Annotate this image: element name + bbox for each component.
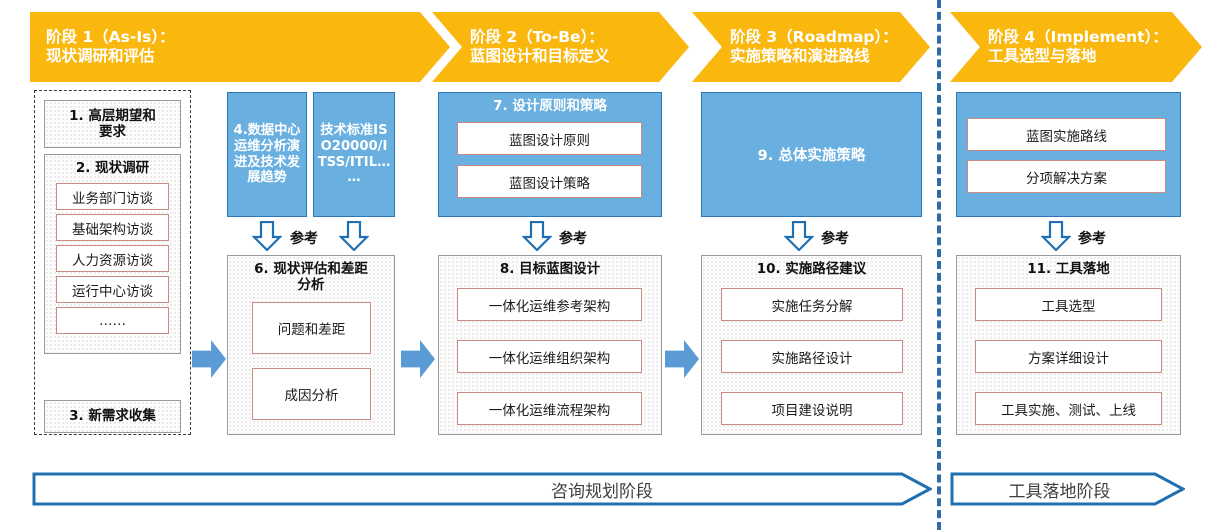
phase-1-title-line2: 现状调研和评估 xyxy=(46,47,450,66)
list-item[interactable]: 蓝图实施路线 xyxy=(967,118,1166,151)
phase-1-title-line1: 阶段 1（As-Is）： xyxy=(46,28,450,47)
list-item[interactable]: 一体化运维参考架构 xyxy=(457,288,642,321)
list-item[interactable]: 人力资源访谈 xyxy=(56,245,169,272)
flow-arrow-col2-to-col3 xyxy=(401,340,435,378)
flow-arrow-col3-to-col4 xyxy=(665,340,699,378)
diagram-canvas: 阶段 1（As-Is）： 现状调研和评估 阶段 2（To-Be）： 蓝图设计和目… xyxy=(0,0,1217,530)
list-item[interactable]: 运行中心访谈 xyxy=(56,276,169,303)
list-item[interactable]: 业务部门访谈 xyxy=(56,183,169,210)
box-4-datacenter-ops-trends[interactable]: 4.数据中心运维分析演进及技术发展趋势 xyxy=(227,92,307,217)
box-blueprint-implementation[interactable] xyxy=(956,92,1181,217)
box-technical-standards[interactable]: 技术标准ISO20000/ITSS/ITIL… … xyxy=(313,92,395,217)
reference-down-arrow-right xyxy=(339,221,369,251)
list-item[interactable]: 蓝图设计策略 xyxy=(457,165,642,198)
reference-down-arrow xyxy=(1041,221,1071,251)
phase-4-title-line2: 工具选型与落地 xyxy=(988,47,1202,66)
box-9-overall-implementation-strategy[interactable]: 9. 总体实施策略 xyxy=(701,92,922,217)
phase-banner-3[interactable]: 阶段 3（Roadmap）： 实施策略和演进路线 xyxy=(692,12,930,82)
reference-down-arrow xyxy=(522,221,552,251)
box-7-title: 7. 设计原则和策略 xyxy=(439,98,661,114)
reference-label: 参考 xyxy=(290,228,318,248)
list-item[interactable]: 一体化运维组织架构 xyxy=(457,340,642,373)
reference-label: 参考 xyxy=(559,228,587,248)
box-6-title: 6. 现状评估和差距 分析 xyxy=(228,262,394,293)
phase-2-title-line2: 蓝图设计和目标定义 xyxy=(470,47,689,66)
list-item[interactable]: …… xyxy=(56,307,169,334)
box-3-new-requirements[interactable]: 3. 新需求收集 xyxy=(44,400,181,433)
reference-down-arrow-left xyxy=(252,221,282,251)
box-2-title: 2. 现状调研 xyxy=(45,161,180,177)
bottom-banner-tool-landing-phase[interactable]: 工具落地阶段 xyxy=(950,472,1185,506)
phase-3-title-line1: 阶段 3（Roadmap）： xyxy=(730,28,930,47)
list-item[interactable]: 蓝图设计原则 xyxy=(457,122,642,155)
box-11-title: 11. 工具落地 xyxy=(957,262,1180,278)
bottom-banner-consulting-phase[interactable]: 咨询规划阶段 xyxy=(32,472,932,506)
box-10-title: 10. 实施路径建议 xyxy=(702,262,921,278)
phase-3-title-line2: 实施策略和演进路线 xyxy=(730,47,930,66)
list-item[interactable]: 实施路径设计 xyxy=(721,340,903,373)
flow-arrow-col1-to-col2 xyxy=(192,340,226,378)
phase-banner-4[interactable]: 阶段 4（Implement）： 工具选型与落地 xyxy=(950,12,1202,82)
list-item[interactable]: 一体化运维流程架构 xyxy=(457,392,642,425)
reference-down-arrow xyxy=(784,221,814,251)
bottom-banner-left-label: 咨询规划阶段 xyxy=(152,472,1052,506)
list-item[interactable]: 工具选型 xyxy=(975,288,1162,321)
phase-banner-2[interactable]: 阶段 2（To-Be）： 蓝图设计和目标定义 xyxy=(432,12,689,82)
list-item[interactable]: 方案详细设计 xyxy=(975,340,1162,373)
list-item[interactable]: 基础架构访谈 xyxy=(56,214,169,241)
list-item[interactable]: 分项解决方案 xyxy=(967,160,1166,193)
bottom-banner-right-label: 工具落地阶段 xyxy=(942,472,1177,506)
reference-label: 参考 xyxy=(821,228,849,248)
list-item[interactable]: 项目建设说明 xyxy=(721,392,903,425)
phase-2-title-line1: 阶段 2（To-Be）： xyxy=(470,28,689,47)
list-item[interactable]: 工具实施、测试、上线 xyxy=(975,392,1162,425)
phase-4-title-line1: 阶段 4（Implement）： xyxy=(988,28,1202,47)
phase-group-separator xyxy=(937,0,941,530)
phase-banner-1[interactable]: 阶段 1（As-Is）： 现状调研和评估 xyxy=(30,12,450,82)
box-8-title: 8. 目标蓝图设计 xyxy=(439,262,661,278)
list-item[interactable]: 问题和差距 xyxy=(252,302,371,354)
box-1-high-level-expectations[interactable]: 1. 高层期望和 要求 xyxy=(44,100,181,148)
reference-label: 参考 xyxy=(1078,228,1106,248)
list-item[interactable]: 实施任务分解 xyxy=(721,288,903,321)
list-item[interactable]: 成因分析 xyxy=(252,368,371,420)
